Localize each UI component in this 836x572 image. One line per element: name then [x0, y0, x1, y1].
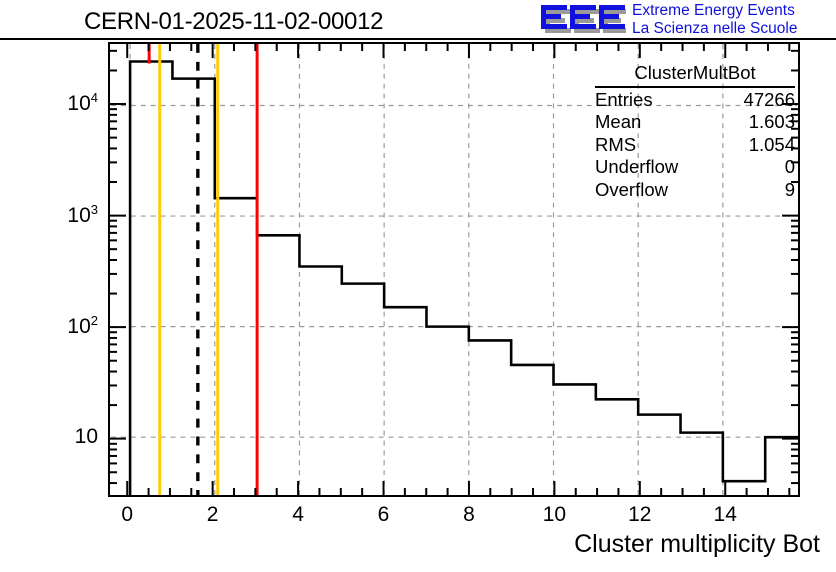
x-axis-tick-label: 6: [354, 503, 414, 527]
header-divider: [0, 38, 836, 40]
eee-logo-mark: [540, 4, 626, 36]
eee-logo-text: Extreme Energy Events La Scienza nelle S…: [632, 2, 797, 38]
x-axis-tick-label: 10: [524, 503, 584, 527]
stats-box: ClusterMultBot Entries47266Mean1.603RMS1…: [595, 62, 795, 201]
stats-rows: Entries47266Mean1.603RMS1.054Underflow0O…: [595, 89, 795, 202]
page-title: CERN-01-2025-11-02-00012: [84, 8, 383, 36]
stats-row: Underflow0: [595, 156, 795, 179]
stats-row: RMS1.054: [595, 134, 795, 157]
stats-row-label: Overflow: [595, 179, 668, 202]
eee-logo: Extreme Energy Events La Scienza nelle S…: [540, 2, 836, 40]
stats-row: Entries47266: [595, 89, 795, 112]
x-axis-title: Cluster multiplicity Bot: [574, 530, 820, 559]
eee-logo-line2: La Scienza nelle Scuole: [632, 20, 797, 38]
eee-logo-line1: Extreme Energy Events: [632, 2, 797, 20]
stats-row-value: 0: [785, 156, 795, 179]
stats-row-value: 1.603: [749, 111, 795, 134]
x-axis-tick-label: 4: [268, 503, 328, 527]
stats-row: Mean1.603: [595, 111, 795, 134]
stats-title: ClusterMultBot: [595, 62, 795, 88]
stats-row-label: Entries: [595, 89, 653, 112]
x-axis-tick-label: 0: [97, 503, 157, 527]
y-axis-tick-label: 10: [2, 425, 98, 449]
x-axis-tick-label: 2: [183, 503, 243, 527]
stats-row-label: RMS: [595, 134, 636, 157]
x-axis-tick-label: 14: [695, 503, 755, 527]
x-axis-tick-label: 12: [610, 503, 670, 527]
stats-row-value: 1.054: [749, 134, 795, 157]
stats-row-label: Underflow: [595, 156, 678, 179]
stats-row: Overflow9: [595, 179, 795, 202]
y-axis-tick-label: 103: [2, 202, 98, 228]
stats-row-value: 9: [785, 179, 795, 202]
y-axis-tick-label: 104: [2, 90, 98, 116]
x-axis-tick-label: 8: [439, 503, 499, 527]
stats-row-value: 47266: [744, 89, 795, 112]
stats-row-label: Mean: [595, 111, 641, 134]
y-axis-tick-label: 102: [2, 313, 98, 339]
